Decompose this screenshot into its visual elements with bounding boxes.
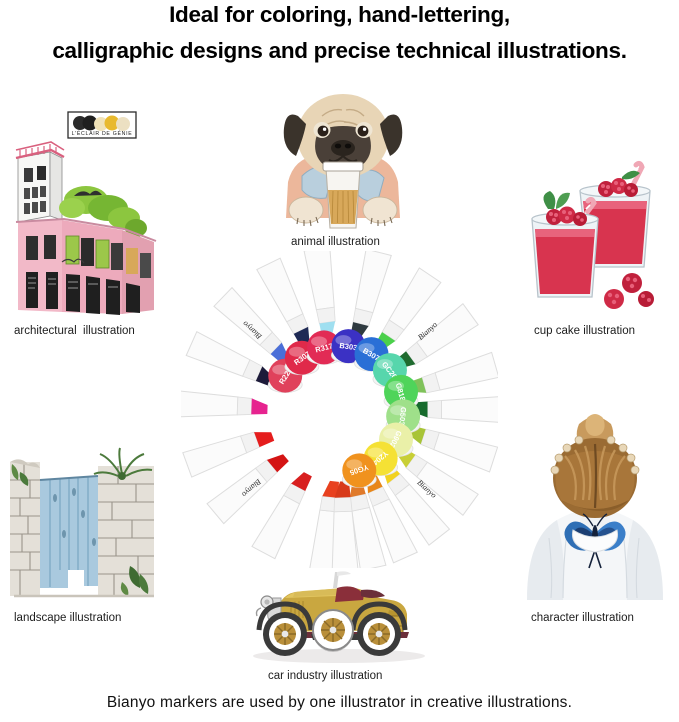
caption-cupcake: cup cake illustration xyxy=(534,325,635,337)
cupcake-illustration-image xyxy=(514,143,674,313)
marker-cap: YG05 xyxy=(342,453,376,487)
footer-tagline: Bianyo markers are used by one illustrat… xyxy=(0,694,679,712)
architectural-illustration-image: L'ÉCLAIR DE GÉNIE xyxy=(4,96,172,318)
caption-landscape: landscape illustration xyxy=(14,612,121,624)
caption-character: character illustration xyxy=(531,612,634,624)
landscape-illustration-image xyxy=(6,446,158,604)
stone-wall-right xyxy=(98,466,154,596)
coffee-cup xyxy=(323,162,363,228)
caption-car: car industry illustration xyxy=(268,670,382,682)
headline-line-1: Ideal for coloring, hand-lettering, xyxy=(0,2,679,28)
animal-illustration-image xyxy=(268,86,418,232)
svg-text:L'ÉCLAIR DE GÉNIE: L'ÉCLAIR DE GÉNIE xyxy=(72,130,133,137)
caption-architectural: architectural illustration xyxy=(14,325,135,337)
character-illustration-image xyxy=(519,408,671,600)
headline-line-2: calligraphic designs and precise technic… xyxy=(0,38,679,64)
shop-sign: L'ÉCLAIR DE GÉNIE xyxy=(68,112,136,138)
car-illustration-image xyxy=(233,558,445,666)
product-marketing-image: Ideal for coloring, hand-lettering, call… xyxy=(0,0,679,722)
caption-animal: animal illustration xyxy=(291,236,380,248)
marker-wheel-image: BianyoBianyoBianyoBianyo R228R307R317B30… xyxy=(181,251,498,568)
car-wheels xyxy=(263,610,401,656)
